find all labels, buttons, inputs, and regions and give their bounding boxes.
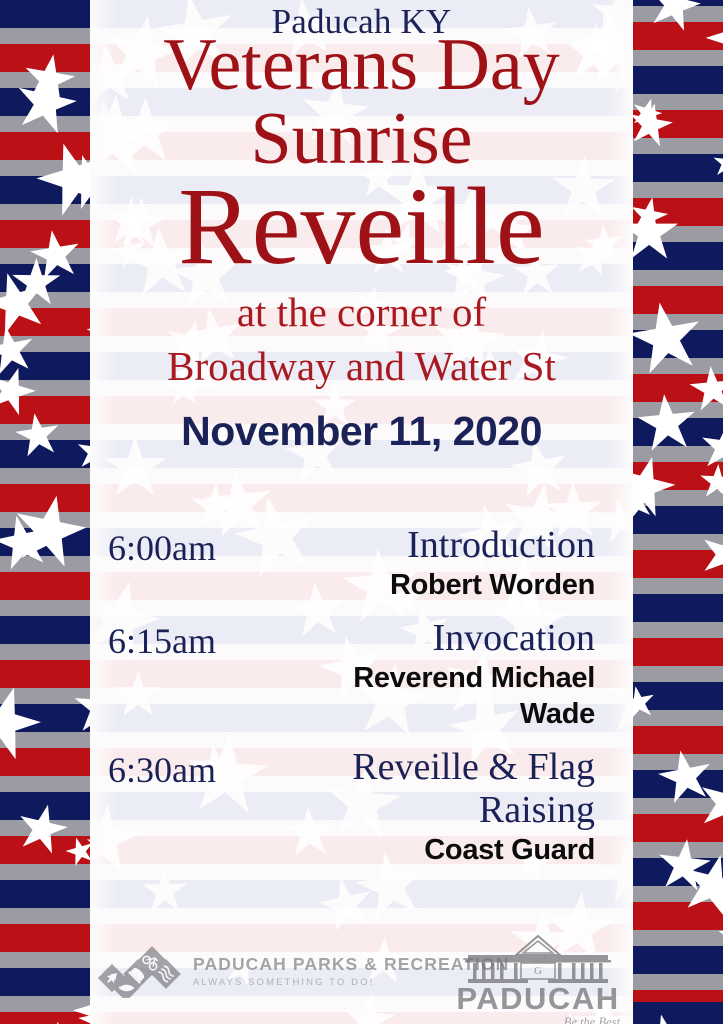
subtitle-line-1: at the corner of [90, 285, 633, 339]
flag-border-right [633, 0, 723, 1024]
svg-text:G: G [534, 965, 542, 977]
schedule-title: Introduction [330, 524, 595, 567]
footer-logos: PADUCAH PARKS & RECREATION ALWAYS SOMETH… [90, 930, 633, 1024]
schedule-time: 6:15am [108, 619, 308, 663]
schedule-title: Invocation [330, 617, 595, 660]
schedule-detail: IntroductionRobert Worden [330, 524, 602, 603]
schedule-time: 6:30am [108, 748, 308, 792]
star-shape [700, 463, 723, 500]
star-shape [14, 1015, 89, 1024]
star-shape [633, 449, 680, 521]
schedule-title: Reveille & Flag Raising [330, 746, 595, 832]
city-of-paducah-logo: G PADUCAH Be the Best [452, 933, 624, 1021]
star-shape [640, 1009, 693, 1024]
schedule-detail: InvocationReverend Michael Wade [330, 617, 602, 732]
star-shape [633, 296, 707, 378]
star-shape [688, 364, 723, 413]
schedule-person: Coast Guard [330, 832, 595, 868]
location-subtitle: at the corner of Broadway and Water St [90, 285, 633, 393]
flag-stars [0, 0, 90, 1024]
star-shape [655, 746, 717, 808]
star-shape [644, 0, 706, 36]
star-shape [73, 679, 90, 736]
schedule-person: Reverend Michael Wade [330, 660, 595, 732]
star-shape [63, 834, 90, 869]
city-logo-tagline: Be the Best [452, 1015, 624, 1024]
schedule-row: 6:30amReveille & Flag RaisingCoast Guard [90, 746, 633, 868]
flag-border-left [0, 0, 90, 1024]
flag-stars [633, 0, 723, 1024]
schedule-row: 6:15amInvocationReverend Michael Wade [90, 617, 633, 732]
schedule-detail: Reveille & Flag RaisingCoast Guard [330, 746, 602, 868]
star-shape [695, 523, 723, 585]
market-house-building-icon: G [452, 933, 624, 983]
star-shape [714, 7, 723, 81]
star-shape [0, 677, 48, 766]
schedule-row: 6:00amIntroductionRobert Worden [90, 524, 633, 603]
title-line-1: Veterans Day [90, 26, 633, 104]
veterans-day-poster: Paducah KY Veterans Day Sunrise Reveille… [0, 0, 723, 1024]
city-logo-name: PADUCAH [452, 984, 624, 1014]
star-shape [633, 684, 658, 722]
title-line-3: Reveille [90, 166, 633, 286]
event-schedule: 6:00amIntroductionRobert Worden6:15amInv… [90, 524, 633, 882]
star-shape [717, 915, 723, 964]
event-date: November 11, 2020 [90, 408, 633, 455]
parks-diamond-mark-icon [98, 944, 184, 998]
schedule-person: Robert Worden [330, 567, 595, 603]
star-shape [636, 391, 699, 454]
star-shape [79, 283, 90, 372]
subtitle-line-2: Broadway and Water St [90, 339, 633, 393]
star-shape [711, 148, 723, 179]
star-shape [0, 361, 40, 420]
star-shape [13, 410, 63, 460]
paducah-parks-recreation-logo: PADUCAH PARKS & RECREATION ALWAYS SOMETH… [98, 944, 509, 998]
star-shape [13, 799, 72, 858]
poster-content: Paducah KY Veterans Day Sunrise Reveille… [90, 0, 633, 1024]
star-shape [693, 768, 723, 838]
star-shape [698, 421, 723, 473]
star-shape [75, 432, 90, 473]
schedule-time: 6:00am [108, 526, 308, 570]
